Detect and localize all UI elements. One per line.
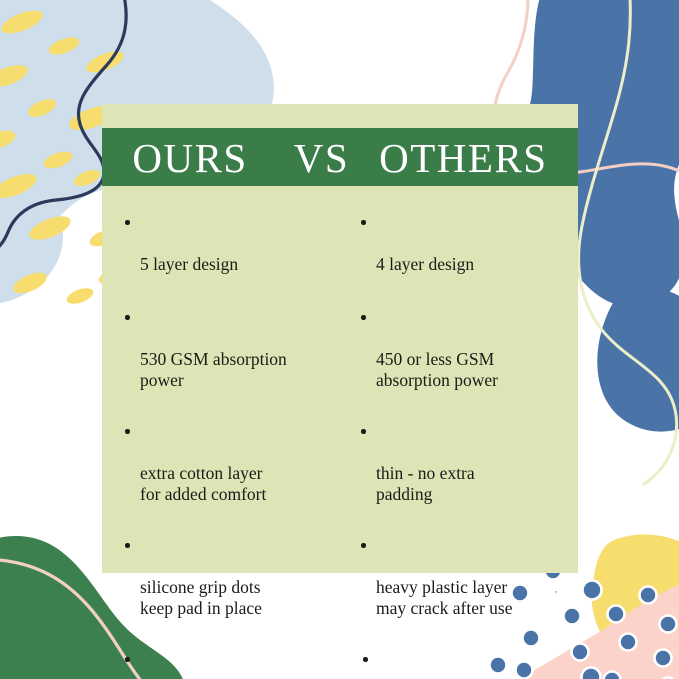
list-item: basic designs xyxy=(360,649,572,679)
bullet-dot-icon xyxy=(363,657,368,662)
comparison-card: OURS VS OTHERS 5 layer design 530 GSM ab… xyxy=(102,104,578,573)
cream-curve-line-icon xyxy=(579,0,677,484)
column-ours: 5 layer design 530 GSM absorption power … xyxy=(102,186,348,573)
list-item-text: 450 or less GSM absorption power xyxy=(376,349,498,390)
card-title: OURS VS OTHERS xyxy=(132,138,547,179)
ours-bullet-list: 5 layer design 530 GSM absorption power … xyxy=(124,212,342,679)
list-item: 530 GSM absorption power xyxy=(124,307,342,391)
list-item: 450 or less GSM absorption power xyxy=(360,307,572,391)
list-item-text: 530 GSM absorption power xyxy=(140,349,287,390)
column-others: 4 layer design 450 or less GSM absorptio… xyxy=(348,186,578,573)
others-bullet-list: 4 layer design 450 or less GSM absorptio… xyxy=(360,212,572,679)
blue-blob-tail-icon xyxy=(597,285,679,432)
list-item-text: thin - no extra padding xyxy=(376,463,475,504)
bullet-dot-icon xyxy=(125,220,130,225)
bullet-dot-icon xyxy=(125,543,130,548)
bullet-dot-icon xyxy=(361,543,366,548)
bullet-dot-icon xyxy=(125,315,130,320)
list-item-text: heavy plastic layer may crack after use xyxy=(376,577,513,618)
card-header-band: OURS VS OTHERS xyxy=(102,128,578,186)
list-item-text: 5 layer design xyxy=(140,254,238,274)
infographic-canvas: OURS VS OTHERS 5 layer design 530 GSM ab… xyxy=(0,0,679,679)
list-item: 4 layer design xyxy=(360,212,572,275)
title-vs-label: VS xyxy=(294,138,349,179)
bullet-dot-icon xyxy=(361,220,366,225)
list-item: 5 layer design xyxy=(124,212,342,275)
title-ours-label: OURS xyxy=(132,138,247,179)
list-item: extra cotton layer for added comfort xyxy=(124,421,342,505)
list-item: heavy plastic layer may crack after use xyxy=(360,535,572,619)
list-item-text: silicone grip dots keep pad in place xyxy=(140,577,262,618)
light-blue-blob-lower-icon xyxy=(0,148,63,306)
list-item-text: extra cotton layer for added comfort xyxy=(140,463,266,504)
list-item-text: 4 layer design xyxy=(376,254,474,274)
bullet-dot-icon xyxy=(125,657,130,662)
list-item: custom hand drawn designs xyxy=(124,649,342,679)
bullet-dot-icon xyxy=(125,429,130,434)
title-others-label: OTHERS xyxy=(379,138,547,179)
list-item: thin - no extra padding xyxy=(360,421,572,505)
list-item: silicone grip dots keep pad in place xyxy=(124,535,342,619)
bullet-dot-icon xyxy=(361,315,366,320)
comparison-columns: 5 layer design 530 GSM absorption power … xyxy=(102,186,578,573)
bullet-dot-icon xyxy=(361,429,366,434)
yellow-blob-icon xyxy=(592,534,679,671)
